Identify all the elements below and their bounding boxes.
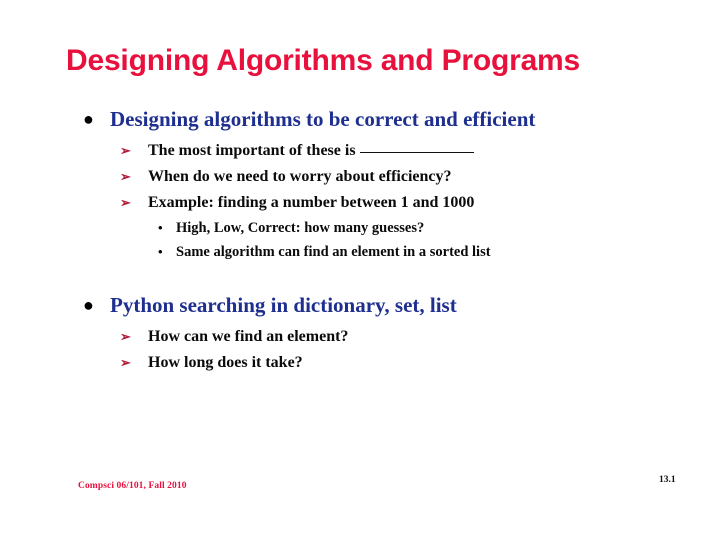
fill-in-blank — [360, 152, 474, 153]
disc-bullet-icon: ● — [83, 104, 94, 134]
arrow-bullet-icon: ➢ — [120, 190, 131, 216]
bullet-level1: ● Designing algorithms to be correct and… — [0, 104, 720, 134]
dot-bullet-icon: • — [158, 216, 163, 240]
arrow-bullet-icon: ➢ — [120, 138, 131, 164]
bullet-level3-label: Same algorithm can find an element in a … — [176, 244, 491, 260]
bullet-level1-label: Designing algorithms to be correct and e… — [110, 107, 535, 131]
slide-canvas: Designing Algorithms and Programs ● Desi… — [0, 0, 720, 540]
bullet-level1-label: Python searching in dictionary, set, lis… — [110, 293, 457, 317]
arrow-bullet-icon: ➢ — [120, 350, 131, 376]
arrow-bullet-icon: ➢ — [120, 164, 131, 190]
disc-bullet-icon: ● — [83, 290, 94, 320]
bullet-level2: ➢ How long does it take? — [0, 350, 720, 376]
dot-bullet-icon: • — [158, 240, 163, 264]
bullet-level2-label: When do we need to worry about efficienc… — [148, 168, 452, 185]
bullet-level2: ➢ How can we find an element? — [0, 324, 720, 350]
bullet-level2-label: Example: finding a number between 1 and … — [148, 194, 474, 211]
bullet-level3-label: High, Low, Correct: how many guesses? — [176, 220, 424, 236]
bullet-level2-label: How long does it take? — [148, 354, 303, 371]
bullet-level2: ➢ Example: finding a number between 1 an… — [0, 190, 720, 216]
bullet-level2: ➢ When do we need to worry about efficie… — [0, 164, 720, 190]
bullet-level2: ➢ The most important of these is — [0, 138, 720, 164]
page-title: Designing Algorithms and Programs — [66, 43, 666, 79]
bullet-level3: • High, Low, Correct: how many guesses? — [0, 216, 720, 240]
footer-course-note: Compsci 06/101, Fall 2010 — [78, 481, 187, 491]
slide-body: ● Designing algorithms to be correct and… — [0, 104, 720, 376]
bullet-level2-label: The most important of these is — [148, 142, 356, 159]
bullet-level3: • Same algorithm can find an element in … — [0, 240, 720, 264]
arrow-bullet-icon: ➢ — [120, 324, 131, 350]
section-spacer — [0, 264, 720, 290]
bullet-level1: ● Python searching in dictionary, set, l… — [0, 290, 720, 320]
footer-page-number: 13.1 — [659, 475, 676, 485]
bullet-level2-label: How can we find an element? — [148, 328, 348, 345]
